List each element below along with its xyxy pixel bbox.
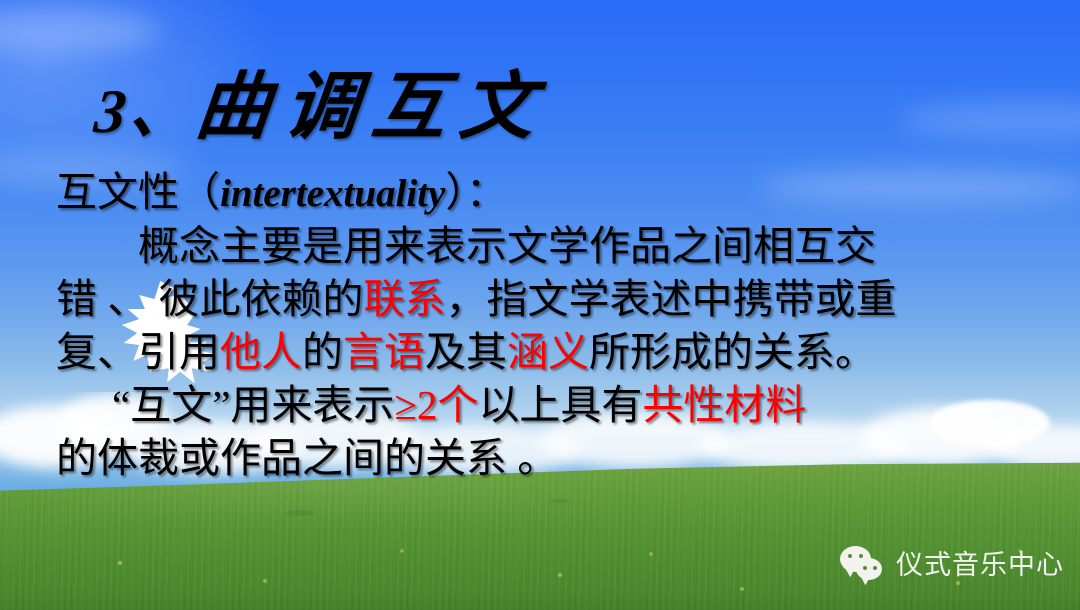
body-line-2: 概念主要是用来表示文学作品之间相互交 [56,220,1046,273]
line5-seg1: “互文”用来表示 [112,382,394,428]
line5-highlight-ge2: ≥2个 [394,382,478,428]
slide-canvas: 3、曲调互文 互文性（intertextuality）： 概念主要是用来表示文学… [0,0,1080,610]
watermark-label: 仪式音乐中心 [896,552,1064,579]
line5-seg3: 以上具有 [478,382,642,428]
title-text: 曲调互文 [192,67,553,149]
body-line-1: 互文性（intertextuality）： [56,166,1046,220]
watermark: 仪式音乐中心 [840,546,1064,584]
line4-seg5: 及其 [425,329,507,375]
line1-term-intertextuality: intertextuality [220,172,445,215]
body-line-4: 复、引用他人的言语及其涵义所形成的关系。 [56,326,1046,379]
line4-seg3: 的 [302,329,343,375]
wechat-eye-2 [859,554,863,558]
wechat-bubble-small [856,558,882,580]
wechat-logo-icon [840,546,886,584]
line4-seg1: 复、引用 [56,329,220,375]
line2-seg1: 概念主要是用来表示文学作品之间相互交 [138,223,876,269]
line4-highlight-hanyi: 涵义 [507,329,589,375]
line4-seg7: 所形成的关系。 [589,329,876,375]
line5-highlight-gongxing: 共性材料 [642,382,806,428]
body-line-3: 错 、 彼此依赖的联系，指文学表述中携带或重 [56,273,1046,326]
line4-highlight-yanyu: 言语 [343,329,425,375]
wechat-eye-3 [863,566,867,570]
body-line-6: 的体裁或作品之间的关系 。 [56,432,1046,485]
title-number: 3、 [91,78,199,146]
body-text-block: 互文性（intertextuality）： 概念主要是用来表示文学作品之间相互交… [56,166,1046,485]
page-title: 3、曲调互文 [90,47,554,154]
line3-highlight-lianxi: 联系 [364,276,446,322]
line1-seg1: 互文性（ [56,169,220,215]
line1-seg3: ）： [445,169,507,215]
wechat-eye-1 [848,554,852,558]
line6-seg1: 的体裁或作品之间的关系 。 [56,435,558,481]
wechat-eye-4 [873,566,877,570]
body-line-5: “互文”用来表示≥2个以上具有共性材料 [56,379,1046,432]
line3-seg1: 错 、 彼此依赖的 [56,276,364,322]
line3-seg3: ，指文学表述中携带或重 [446,276,897,322]
line4-highlight-taren: 他人 [220,329,302,375]
